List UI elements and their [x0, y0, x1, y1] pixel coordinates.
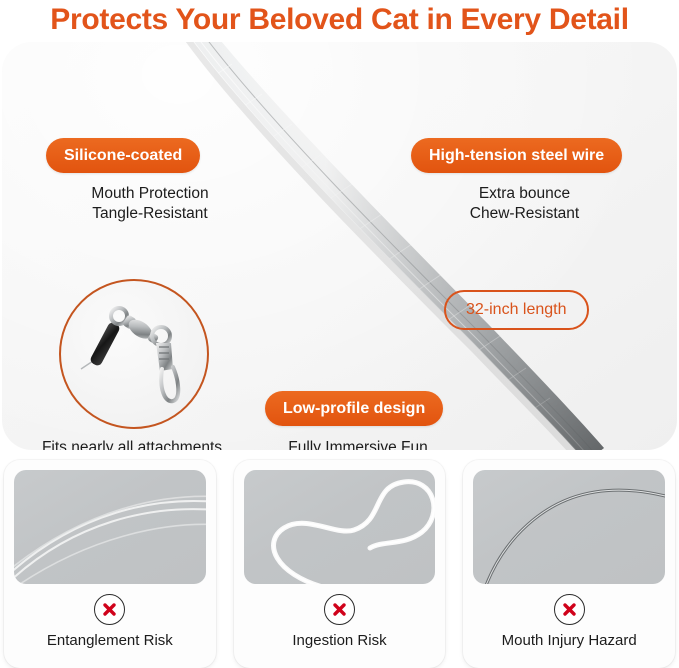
risk-cards-row: Entanglement Risk Ingestion Risk — [0, 460, 679, 668]
caption-line-1: Fully Immersive Fun — [252, 438, 464, 450]
hero-panel: Silicone-coated Mouth Protection Tangle-… — [2, 42, 677, 450]
risk-card-mouth-injury: Mouth Injury Hazard — [463, 460, 675, 668]
risk-label-ingestion: Ingestion Risk — [292, 632, 386, 649]
attachment-detail-circle — [59, 279, 209, 429]
x-mark-icon — [324, 594, 355, 625]
caption-fits-attachments: Fits nearly all attachments — [12, 438, 252, 450]
badge-silicone-coated: Silicone-coated — [46, 138, 200, 173]
page-title: Protects Your Beloved Cat in Every Detai… — [0, 0, 679, 40]
risk-card-entanglement: Entanglement Risk — [4, 460, 216, 668]
risk-image-entanglement — [14, 470, 206, 584]
caption-line-1: Mouth Protection — [32, 184, 268, 204]
swivel-clip-attachment-icon — [61, 281, 203, 423]
risk-label-mouth-injury: Mouth Injury Hazard — [502, 632, 637, 649]
risk-image-mouth-injury — [473, 470, 665, 584]
x-mark-icon — [554, 594, 585, 625]
risk-card-ingestion: Ingestion Risk — [234, 460, 446, 668]
caption-line-1: Extra bounce — [412, 184, 637, 204]
badge-high-tension-steel-wire: High-tension steel wire — [411, 138, 622, 173]
risk-label-entanglement: Entanglement Risk — [47, 632, 173, 649]
caption-low-profile-design: Fully Immersive Fun — [252, 438, 464, 450]
infographic-page: Protects Your Beloved Cat in Every Detai… — [0, 0, 679, 668]
risk-image-ingestion — [244, 470, 436, 584]
caption-silicone-coated: Mouth Protection Tangle-Resistant — [32, 184, 268, 224]
caption-line-2: Chew-Resistant — [412, 204, 637, 224]
caption-line-2: Tangle-Resistant — [32, 204, 268, 224]
badge-32-inch-length: 32-inch length — [444, 290, 589, 330]
badge-low-profile-design: Low-profile design — [265, 391, 443, 426]
x-mark-icon — [94, 594, 125, 625]
caption-high-tension-steel-wire: Extra bounce Chew-Resistant — [412, 184, 637, 224]
